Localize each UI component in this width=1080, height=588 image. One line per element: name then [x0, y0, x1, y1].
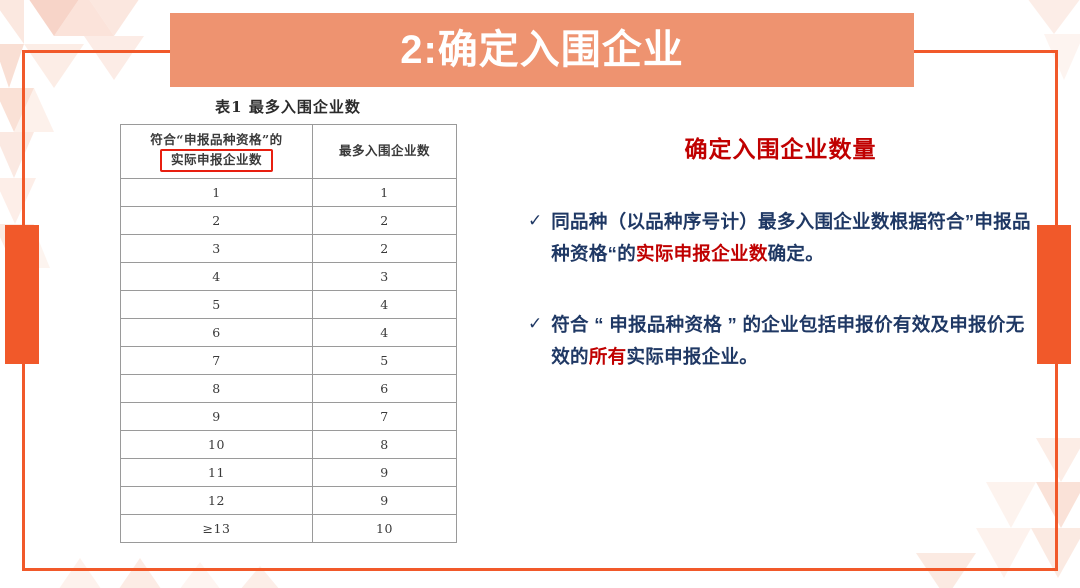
right-text-section: 确定入围企业数量 ✓同品种（以品种序号计）最多入围企业数根据符合”申报品种资格“… [528, 130, 1033, 412]
table-row: 64 [121, 318, 457, 346]
header-max-shortlisted: 最多入围企业数 [313, 125, 457, 179]
table-row: 97 [121, 402, 457, 430]
cell-declared-firms: 3 [121, 234, 313, 262]
table-row: 119 [121, 458, 457, 486]
right-panel-heading: 确定入围企业数量 [528, 130, 1033, 164]
page-title: 2:确定入围企业 [400, 30, 684, 70]
cell-max-shortlisted: 4 [313, 290, 457, 318]
cell-declared-firms: 10 [121, 430, 313, 458]
table-section: 表1 最多入围企业数 符合“申报品种资格”的 实际申报企业数 最多入围企业数 1… [120, 96, 456, 543]
cell-declared-firms: 2 [121, 206, 313, 234]
right-accent-block [1037, 225, 1071, 364]
table-row: 43 [121, 262, 457, 290]
table-caption: 表1 最多入围企业数 [120, 96, 456, 117]
bullet-item: ✓同品种（以品种序号计）最多入围企业数根据符合”申报品种资格“的实际申报企业数确… [528, 206, 1033, 271]
max-shortlisted-firms-table: 符合“申报品种资格”的 实际申报企业数 最多入围企业数 112232435464… [120, 124, 457, 543]
cell-max-shortlisted: 9 [313, 458, 457, 486]
table-row: 54 [121, 290, 457, 318]
cell-declared-firms: 5 [121, 290, 313, 318]
slide-root: 2:确定入围企业 表1 最多入围企业数 符合“申报品种资格”的 实际申报企业数 … [0, 0, 1080, 588]
check-icon: ✓ [528, 309, 542, 339]
table-body: 112232435464758697108119129≥1310 [121, 178, 457, 542]
table-row: 11 [121, 178, 457, 206]
cell-max-shortlisted: 1 [313, 178, 457, 206]
cell-declared-firms: 9 [121, 402, 313, 430]
table-row: ≥1310 [121, 514, 457, 542]
bullet-highlight-text: 实际申报企业数 [636, 243, 768, 264]
bullet-text: 同品种（以品种序号计）最多入围企业数根据符合”申报品种资格“的实际申报企业数确定… [551, 206, 1033, 271]
table-row: 86 [121, 374, 457, 402]
cell-declared-firms: ≥13 [121, 514, 313, 542]
cell-max-shortlisted: 10 [313, 514, 457, 542]
table-row: 129 [121, 486, 457, 514]
table-row: 75 [121, 346, 457, 374]
table-row: 32 [121, 234, 457, 262]
header-declared-highlight: 实际申报企业数 [160, 149, 273, 172]
cell-max-shortlisted: 3 [313, 262, 457, 290]
cell-max-shortlisted: 8 [313, 430, 457, 458]
cell-declared-firms: 6 [121, 318, 313, 346]
left-accent-block [5, 225, 39, 364]
cell-declared-firms: 12 [121, 486, 313, 514]
cell-max-shortlisted: 2 [313, 206, 457, 234]
cell-declared-firms: 8 [121, 374, 313, 402]
header-declared-line1: 符合“申报品种资格”的 [150, 132, 282, 147]
cell-max-shortlisted: 7 [313, 402, 457, 430]
bullet-highlight-text: 所有 [589, 346, 627, 367]
cell-max-shortlisted: 2 [313, 234, 457, 262]
header-declared-firms: 符合“申报品种资格”的 实际申报企业数 [121, 125, 313, 179]
table-row: 22 [121, 206, 457, 234]
cell-max-shortlisted: 5 [313, 346, 457, 374]
cell-max-shortlisted: 6 [313, 374, 457, 402]
title-banner: 2:确定入围企业 [170, 13, 914, 87]
cell-max-shortlisted: 9 [313, 486, 457, 514]
cell-max-shortlisted: 4 [313, 318, 457, 346]
bullet-plain-text: 确定。 [768, 243, 824, 264]
cell-declared-firms: 11 [121, 458, 313, 486]
bullet-list: ✓同品种（以品种序号计）最多入围企业数根据符合”申报品种资格“的实际申报企业数确… [528, 206, 1033, 374]
table-row: 108 [121, 430, 457, 458]
cell-declared-firms: 1 [121, 178, 313, 206]
check-icon: ✓ [528, 206, 542, 236]
cell-declared-firms: 7 [121, 346, 313, 374]
bullet-item: ✓符合 “ 申报品种资格 ” 的企业包括申报价有效及申报价无效的所有实际申报企业… [528, 309, 1033, 374]
bullet-plain-text: 实际申报企业。 [626, 346, 758, 367]
cell-declared-firms: 4 [121, 262, 313, 290]
bullet-text: 符合 “ 申报品种资格 ” 的企业包括申报价有效及申报价无效的所有实际申报企业。 [551, 309, 1033, 374]
table-header-row: 符合“申报品种资格”的 实际申报企业数 最多入围企业数 [121, 125, 457, 179]
